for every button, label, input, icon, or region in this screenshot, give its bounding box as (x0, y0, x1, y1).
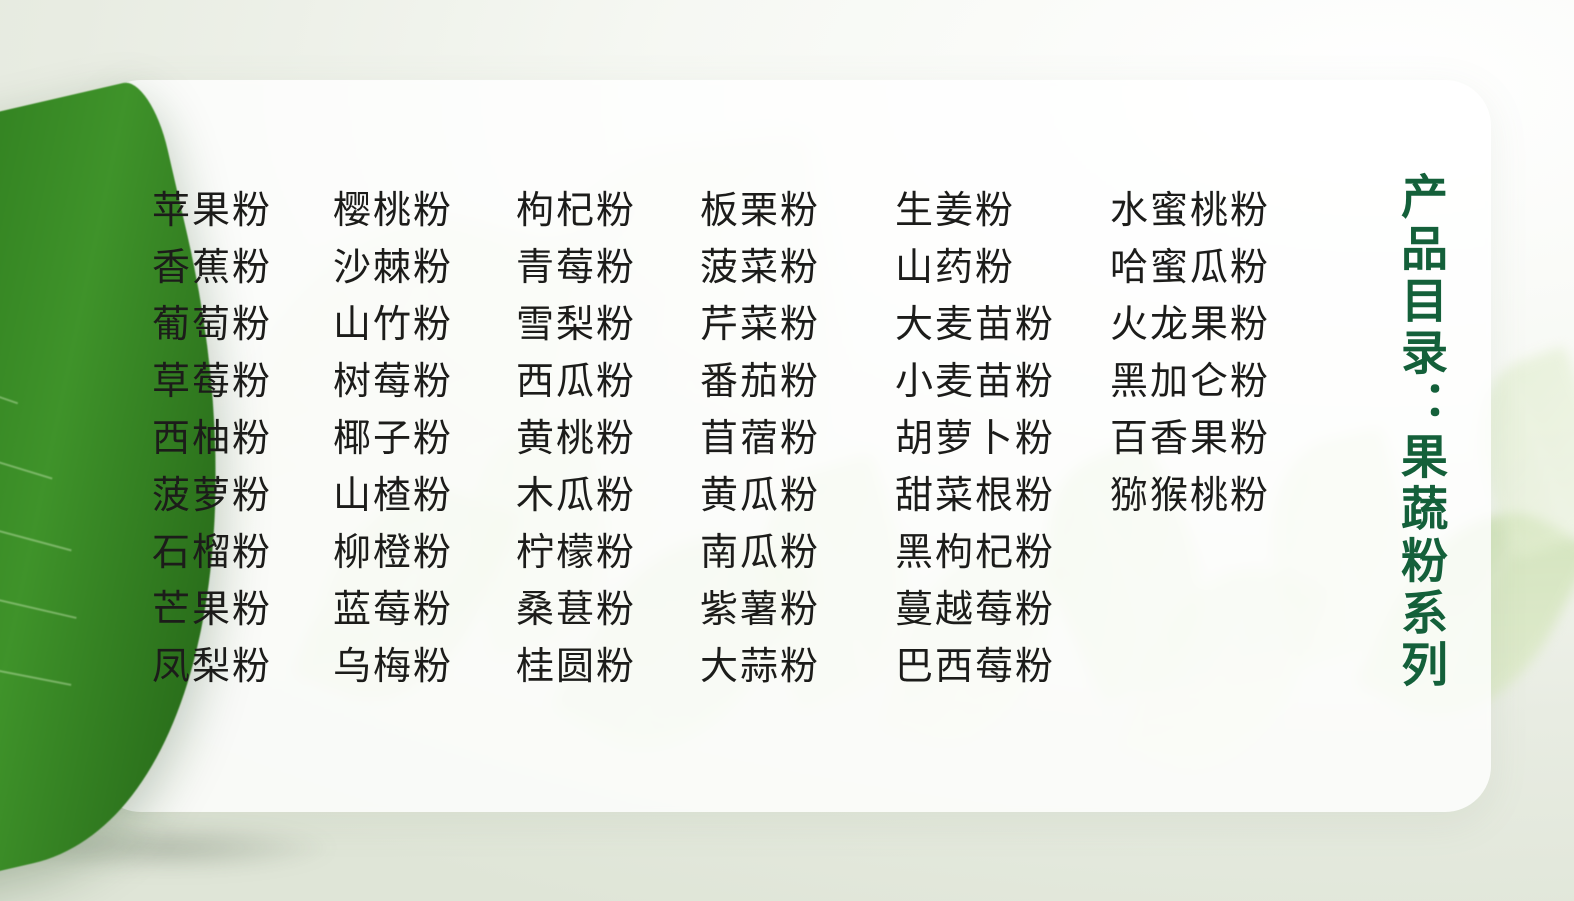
product-item[interactable]: 黄瓜粉 (700, 468, 895, 525)
product-item[interactable]: 哈蜜瓜粉 (1110, 240, 1310, 297)
product-item[interactable]: 山药粉 (895, 240, 1110, 297)
product-item[interactable]: 大蒜粉 (700, 639, 895, 696)
product-item[interactable]: 桑葚粉 (516, 582, 700, 639)
product-item[interactable]: 木瓜粉 (516, 468, 700, 525)
product-item[interactable]: 柳橙粉 (333, 525, 516, 582)
product-item[interactable]: 蓝莓粉 (333, 582, 516, 639)
leaf-vein (0, 661, 71, 686)
product-item[interactable]: 草莓粉 (152, 354, 333, 411)
product-item[interactable]: 西柚粉 (152, 411, 333, 468)
product-item[interactable]: 菠菜粉 (700, 240, 895, 297)
leaf-vein (0, 349, 18, 405)
product-item[interactable]: 生姜粉 (895, 183, 1110, 240)
leaf-vein (0, 505, 72, 551)
product-item[interactable]: 水蜜桃粉 (1110, 183, 1310, 240)
product-item[interactable]: 百香果粉 (1110, 411, 1310, 468)
product-item[interactable]: 蔓越莓粉 (895, 582, 1110, 639)
product-item[interactable]: 菠萝粉 (152, 468, 333, 525)
product-item[interactable]: 黑枸杞粉 (895, 525, 1110, 582)
product-item[interactable]: 柠檬粉 (516, 525, 700, 582)
product-item[interactable]: 枸杞粉 (516, 183, 700, 240)
product-item[interactable]: 乌梅粉 (333, 639, 516, 696)
product-item[interactable]: 胡萝卜粉 (895, 411, 1110, 468)
product-item[interactable]: 椰子粉 (333, 411, 516, 468)
product-item[interactable]: 山楂粉 (333, 468, 516, 525)
product-item-empty (1110, 525, 1310, 582)
product-item[interactable]: 南瓜粉 (700, 525, 895, 582)
product-item[interactable]: 巴西莓粉 (895, 639, 1110, 696)
product-item[interactable]: 沙棘粉 (333, 240, 516, 297)
leaf-vein (0, 427, 52, 480)
product-item[interactable]: 雪梨粉 (516, 297, 700, 354)
leaf-vein (0, 583, 77, 619)
product-item[interactable]: 大麦苗粉 (895, 297, 1110, 354)
product-item[interactable]: 青莓粉 (516, 240, 700, 297)
product-item[interactable]: 葡萄粉 (152, 297, 333, 354)
product-item[interactable]: 苹果粉 (152, 183, 333, 240)
product-item[interactable]: 甜菜根粉 (895, 468, 1110, 525)
product-item-empty (1110, 582, 1310, 639)
product-item[interactable]: 猕猴桃粉 (1110, 468, 1310, 525)
product-item[interactable]: 香蕉粉 (152, 240, 333, 297)
product-item[interactable]: 西瓜粉 (516, 354, 700, 411)
page-title-vertical: 产品目录：果蔬粉系列 (1393, 172, 1446, 692)
product-item-empty (1110, 639, 1310, 696)
product-item[interactable]: 苜蓿粉 (700, 411, 895, 468)
product-item[interactable]: 小麦苗粉 (895, 354, 1110, 411)
product-catalog-grid: 苹果粉 樱桃粉 枸杞粉 板栗粉 生姜粉 水蜜桃粉 香蕉粉 沙棘粉 青莓粉 菠菜粉… (152, 183, 1312, 696)
product-item[interactable]: 山竹粉 (333, 297, 516, 354)
product-item[interactable]: 芹菜粉 (700, 297, 895, 354)
product-item[interactable]: 番茄粉 (700, 354, 895, 411)
product-item[interactable]: 火龙果粉 (1110, 297, 1310, 354)
product-item[interactable]: 树莓粉 (333, 354, 516, 411)
product-item[interactable]: 凤梨粉 (152, 639, 333, 696)
product-item[interactable]: 桂圆粉 (516, 639, 700, 696)
product-item[interactable]: 板栗粉 (700, 183, 895, 240)
product-item[interactable]: 芒果粉 (152, 582, 333, 639)
product-item[interactable]: 樱桃粉 (333, 183, 516, 240)
product-item[interactable]: 紫薯粉 (700, 582, 895, 639)
catalog-poster: 苹果粉 樱桃粉 枸杞粉 板栗粉 生姜粉 水蜜桃粉 香蕉粉 沙棘粉 青莓粉 菠菜粉… (0, 0, 1574, 901)
product-item[interactable]: 黑加仑粉 (1110, 354, 1310, 411)
product-item[interactable]: 石榴粉 (152, 525, 333, 582)
product-item[interactable]: 黄桃粉 (516, 411, 700, 468)
